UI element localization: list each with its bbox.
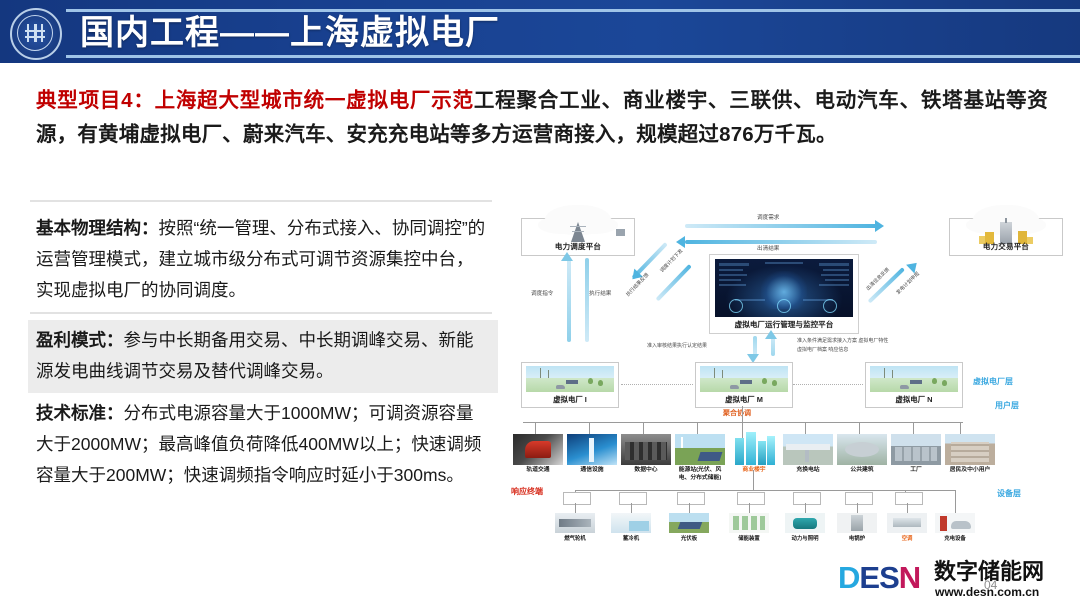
dashboard-gauge-left [729,299,743,313]
resource-item-charging-station[interactable]: 充换电站 [783,434,833,475]
dispatch-platform-label: 电力调度平台 [522,241,634,252]
layer-label-vpp: 虚拟电厂层 [973,376,1013,387]
response-terminal-meter-3 [677,492,705,505]
info-block-label-0: 基本物理结构： [36,218,159,238]
tower-crossbars [570,226,586,238]
cold-storage-icon [611,513,651,533]
central-platform-label: 虚拟电厂运行管理与监控平台 [710,319,858,330]
response-terminal-meter-4 [737,492,765,505]
resource-item-metro[interactable]: 轨道交通 [513,434,563,475]
device-label-electric-boiler: 电锅炉 [837,534,877,542]
logo-letter-n: N [899,560,920,595]
up-arrow-line [771,336,775,356]
resource-leg-1 [535,422,536,434]
resource-leg-7 [859,422,860,434]
power-lighting-icon [785,513,825,533]
device-item-battery-storage[interactable]: 储能装置 [729,513,769,542]
vpp-architecture-diagram: 电力调度平台 电力交易平台 调度需求 出清结果 执行结果反馈 调度计划下发 出清… [505,196,1077,548]
device-item-electric-boiler[interactable]: 电锅炉 [837,513,877,542]
air-conditioner-icon [887,513,927,533]
layer-label-user: 用户层 [995,400,1019,411]
lead-paragraph: 典型项目4：上海超大型城市统一虚拟电厂示范工程聚合工业、商业楼宇、三联供、电动汽… [36,84,1048,152]
block-divider-top [30,200,492,202]
resource-item-datacenter[interactable]: 数据中心 [621,434,671,475]
dashboard-gauge-mid [777,299,791,313]
resource-label-factory: 工厂 [891,467,941,475]
device-leg-5 [805,503,806,513]
vpp-node-2: 虚拟电厂 M [695,362,793,408]
gas-turbine-icon [555,513,595,533]
flow-label-demand: 调度需求 [757,213,779,221]
flow-label-dispatch-cmd: 调度指令 [531,289,553,297]
logo-letter-e: E [859,560,879,595]
down-arrow-line [753,336,757,356]
device-item-cold-storage[interactable]: 蓄冷机 [611,513,651,542]
clearing-arrow-head [676,236,685,248]
flow-label-audit-result: 准入审核结果执行认定结果 [647,342,707,349]
flow-label-access-info-2: 虚拟电厂档案 响应信息 [797,346,848,353]
trading-platform-label: 电力交易平台 [950,241,1062,252]
response-terminal-meter-5 [793,492,821,505]
resource-label-metro: 轨道交通 [513,467,563,475]
info-block-tech-standard: 技术标准：分布式电源容量大于1000MW；可调资源容量大于2000MW；最高峰值… [28,393,498,497]
battery-storage-icon [729,513,769,533]
pv-panel-icon [669,513,709,533]
device-label-power-lighting: 动力与照明 [785,534,825,542]
vpp-node-3: 虚拟电厂 N [865,362,963,408]
vpp-node-2-thumb [700,366,788,392]
device-trunk [753,470,754,490]
exec-result-arrow-line [585,258,589,342]
demand-arrow-head [875,220,884,232]
block-divider-mid [30,312,492,314]
page-number: 04 [984,578,997,592]
resource-leg-9 [960,422,961,434]
resource-item-telecom[interactable]: 通信设施 [567,434,617,475]
resource-label-residential: 居民及中小用户 [945,467,995,475]
substation-box-icon [616,229,625,236]
vpp-dot-connector-left [621,384,693,385]
device-label-battery-storage: 储能装置 [729,534,769,542]
charging-station-icon [783,434,833,465]
resource-item-commercial-building[interactable]: 商业楼宇 [729,432,779,475]
device-item-ev-charger[interactable]: 充电设备 [935,513,975,542]
resource-label-commercial-building: 商业楼宇 [729,467,779,475]
metro-train-icon [513,434,563,465]
resource-leg-3 [643,422,644,434]
lead-highlight: 典型项目4：上海超大型城市统一虚拟电厂示范 [36,89,474,112]
device-leg-7 [907,503,908,513]
device-label-ev-charger: 充电设备 [935,534,975,542]
trading-platform-box: 电力交易平台 [949,218,1063,256]
device-bus-ext [905,490,955,491]
device-leg-3 [689,503,690,513]
logo-letter-s: S [879,560,899,595]
flow-label-access-info: 准入条件满足需求接入方案 虚拟电厂特性 [797,337,888,344]
ev-charger-icon [935,513,975,533]
device-item-power-lighting[interactable]: 动力与照明 [785,513,825,542]
emblem-inner-ring [17,15,53,51]
flow-label-dispatch-plan: 调度计划下发 [658,247,684,273]
resource-label-telecom: 通信设施 [567,467,617,475]
device-leg-6 [857,503,858,513]
resource-item-public-building[interactable]: 公共建筑 [837,434,887,475]
device-leg-2 [631,503,632,513]
left-content-column: 基本物理结构：按照“统一管理、分布式接入、协同调控”的运营管理模式，建立城市级分… [28,200,498,497]
device-label-pv-panel: 光伏板 [669,534,709,542]
desn-logo-letters: DESN [838,562,920,593]
info-block-label-1: 盈利模式： [36,330,124,350]
data-center-icon [621,434,671,465]
device-item-air-conditioner[interactable]: 空调 [887,513,927,542]
flow-label-exec-result: 执行结果 [589,289,611,297]
skyline-spire [1005,218,1007,223]
resource-label-datacenter: 数据中心 [621,467,671,475]
resource-item-energy-station[interactable]: 能源站(光伏、风电、分布式储能) [675,434,725,482]
resource-leg-2 [589,422,590,434]
device-label-gas-turbine: 燃气轮机 [555,534,595,542]
energy-station-icon [675,434,725,465]
info-block-profit-model: 盈利模式：参与中长期备用交易、中长期调峰交易、新能源发电曲线调节交易及替代调峰交… [28,320,498,393]
device-leg-4 [749,503,750,513]
commercial-building-icon [729,432,779,465]
layer-label-response-terminal: 响应终端 [511,486,543,497]
telecom-tower-icon [567,434,617,465]
slide-header: 国内工程——上海虚拟电厂 [0,0,1080,63]
layer-label-device: 设备层 [997,488,1021,499]
info-block-label-2: 技术标准： [36,403,124,423]
device-bus [575,490,905,491]
resource-leg-6 [805,422,806,434]
dispatch-cmd-arrow-line [567,258,571,342]
device-label-cold-storage: 蓄冷机 [611,534,651,542]
flow-label-declare: 出清信息反馈 [865,266,891,292]
page-title: 国内工程——上海虚拟电厂 [80,10,500,56]
residential-icon [945,434,995,465]
desn-watermark: DESN 数字储能网 www.desn.com.cn [838,560,1074,604]
up-arrow-head [765,330,777,339]
dashboard-gauge-right [823,299,837,313]
resource-label-energy-station: 能源站(光伏、风电、分布式储能) [675,467,725,482]
device-leg-1 [575,503,576,513]
electric-boiler-icon [837,513,877,533]
device-label-air-conditioner: 空调 [887,534,927,542]
device-item-pv-panel[interactable]: 光伏板 [669,513,709,542]
vpp-node-3-label: 虚拟电厂 N [866,394,962,405]
flow-label-clearing: 出清结果 [757,244,779,252]
factory-icon [891,434,941,465]
response-terminal-meter-1 [563,492,591,505]
dispatch-platform-box: 电力调度平台 [521,218,635,256]
resource-leg-4 [697,422,698,434]
device-leg-8 [955,490,956,513]
vpp-node-1-thumb [526,366,614,392]
vpp-node-1: 虚拟电厂 I [521,362,619,408]
aggregation-label: 聚合协调 [723,408,751,418]
resource-item-residential[interactable]: 居民及中小用户 [945,434,995,475]
response-terminal-meter-6 [845,492,873,505]
resource-leg-8 [913,422,914,434]
central-monitoring-panel: 虚拟电厂运行管理与监控平台 [709,254,859,334]
university-emblem-icon [10,8,62,60]
emblem-mark [25,24,45,42]
device-item-gas-turbine[interactable]: 燃气轮机 [555,513,595,542]
vpp-node-2-label: 虚拟电厂 M [696,394,792,405]
resource-item-factory[interactable]: 工厂 [891,434,941,475]
vpp-node-1-label: 虚拟电厂 I [522,394,618,405]
resource-label-charging-station: 充换电站 [783,467,833,475]
info-block-physical-structure: 基本物理结构：按照“统一管理、分布式接入、协同调控”的运营管理模式，建立城市级分… [28,208,498,312]
dashboard-screenshot [715,259,853,317]
demand-arrow-line [685,224,877,228]
resource-label-public-building: 公共建筑 [837,467,887,475]
clearing-arrow-line [685,240,877,244]
vpp-dot-connector-right [793,384,863,385]
response-terminal-meter-2 [619,492,647,505]
vpp-node-3-thumb [870,366,958,392]
response-terminal-meter-7 [895,492,923,505]
public-building-icon [837,434,887,465]
dispatch-cmd-arrow-head [561,252,573,261]
logo-letter-d: D [838,560,859,595]
